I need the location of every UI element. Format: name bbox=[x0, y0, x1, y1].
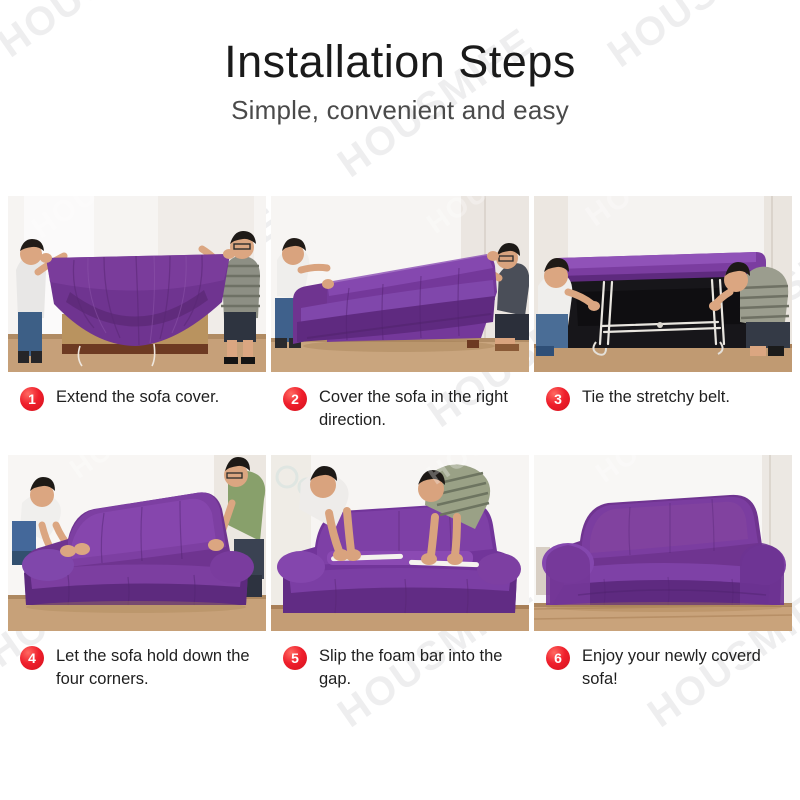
step-card-4: HOUSMIFE 4 Let the sofa hold down the fo… bbox=[8, 455, 266, 692]
step-number-badge: 4 bbox=[20, 646, 44, 670]
step-caption-text: Enjoy your newly coverd sofa! bbox=[582, 645, 788, 692]
step-image-alt: Two men tucking the cover corners down a… bbox=[8, 692, 9, 693]
step-caption-6: 6 Enjoy your newly coverd sofa! bbox=[534, 631, 792, 692]
step-image-alt: Two men draping the purple cover down ov… bbox=[271, 433, 272, 434]
step-photo-6: HOUSMIFE bbox=[534, 455, 792, 631]
step-card-2: HOUSMIFE 2 Cover the sofa in the right d… bbox=[271, 196, 529, 433]
step-caption-text: Extend the sofa cover. bbox=[56, 386, 219, 409]
step-caption-text: Cover the sofa in the right direction. bbox=[319, 386, 525, 433]
step-caption-3: 3 Tie the stretchy belt. bbox=[534, 372, 792, 411]
step-number-badge: 1 bbox=[20, 387, 44, 411]
step-number-badge: 3 bbox=[546, 387, 570, 411]
step-caption-text: Let the sofa hold down the four corners. bbox=[56, 645, 262, 692]
step-caption-text: Slip the foam bar into the gap. bbox=[319, 645, 525, 692]
step-card-1: HOUSMIFE 1 Extend the sofa cover. Two me… bbox=[8, 196, 266, 433]
step-number-badge: 2 bbox=[283, 387, 307, 411]
page-title: Installation Steps bbox=[0, 38, 800, 85]
step-image-alt: Two men pushing white foam bars into the… bbox=[271, 692, 272, 693]
step-card-3: HOUSMIFE 3 Tie the stretchy belt. Two me… bbox=[534, 196, 792, 433]
step-photo-4: HOUSMIFE bbox=[8, 455, 266, 631]
step-card-6: HOUSMIFE 6 Enjoy your newly coverd sofa!… bbox=[534, 455, 792, 692]
step-photo-3: HOUSMIFE bbox=[534, 196, 792, 372]
step-caption-2: 2 Cover the sofa in the right direction. bbox=[271, 372, 529, 433]
step-caption-5: 5 Slip the foam bar into the gap. bbox=[271, 631, 529, 692]
infographic-page: HOUSMIFE HOUSMIFE HOUSMIFE HOUSMIFE HOUS… bbox=[0, 0, 800, 800]
step-number-badge: 6 bbox=[546, 646, 570, 670]
step-caption-1: 1 Extend the sofa cover. bbox=[8, 372, 266, 411]
header: Installation Steps Simple, convenient an… bbox=[0, 0, 800, 126]
step-number-badge: 5 bbox=[283, 646, 307, 670]
step-image-alt: The finished sofa neatly fitted with the… bbox=[534, 692, 535, 693]
step-card-5: HOUSMIFE 5 Slip the foam bar into the ga… bbox=[271, 455, 529, 692]
step-photo-1: HOUSMIFE bbox=[8, 196, 266, 372]
step-image-alt: Two men holding the purple stretch cover… bbox=[8, 411, 9, 412]
steps-grid: HOUSMIFE 1 Extend the sofa cover. Two me… bbox=[8, 196, 792, 692]
step-photo-5: HOUSMIFE bbox=[271, 455, 529, 631]
step-caption-4: 4 Let the sofa hold down the four corner… bbox=[8, 631, 266, 692]
page-subtitle: Simple, convenient and easy bbox=[0, 95, 800, 126]
step-image-alt: Two men crouching behind the sofa tying … bbox=[534, 411, 535, 412]
step-photo-2: HOUSMIFE bbox=[271, 196, 529, 372]
step-caption-text: Tie the stretchy belt. bbox=[582, 386, 730, 409]
